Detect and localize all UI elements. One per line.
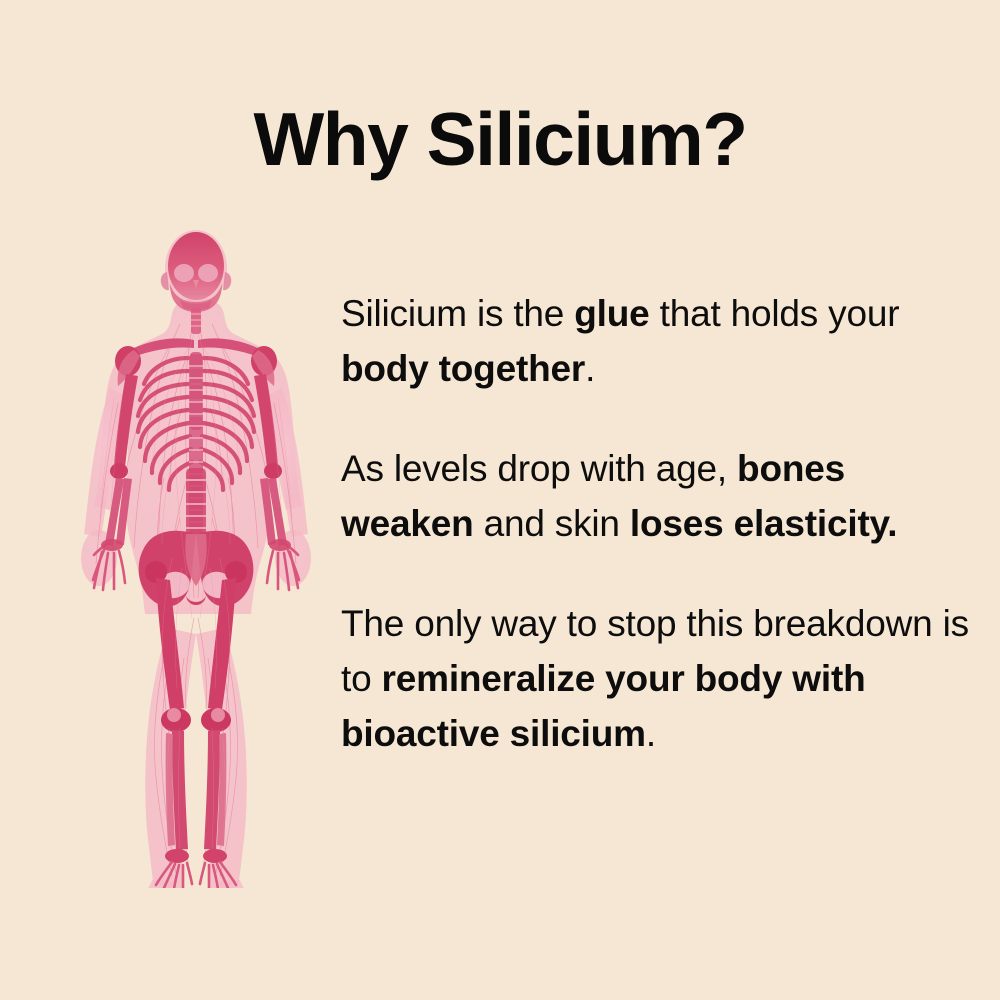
human-anatomy-figure	[46, 228, 346, 888]
spine	[186, 354, 206, 536]
foot-bones	[156, 849, 236, 888]
cervical-spine	[191, 308, 201, 334]
knee-joints	[161, 708, 231, 732]
paragraph-2: As levels drop with age, bones weaken an…	[341, 441, 981, 551]
anatomy-illustration-svg	[46, 228, 346, 888]
paragraph-1: Silicium is the glue that holds your bod…	[341, 286, 981, 396]
page-title: Why Silicium?	[0, 102, 1000, 177]
body-copy: Silicium is the glue that holds your bod…	[341, 286, 981, 761]
skeleton	[93, 232, 299, 888]
skull	[161, 232, 232, 312]
paragraph-3: The only way to stop this breakdown is t…	[341, 596, 981, 761]
poster-canvas: Why Silicium?	[0, 0, 1000, 1000]
